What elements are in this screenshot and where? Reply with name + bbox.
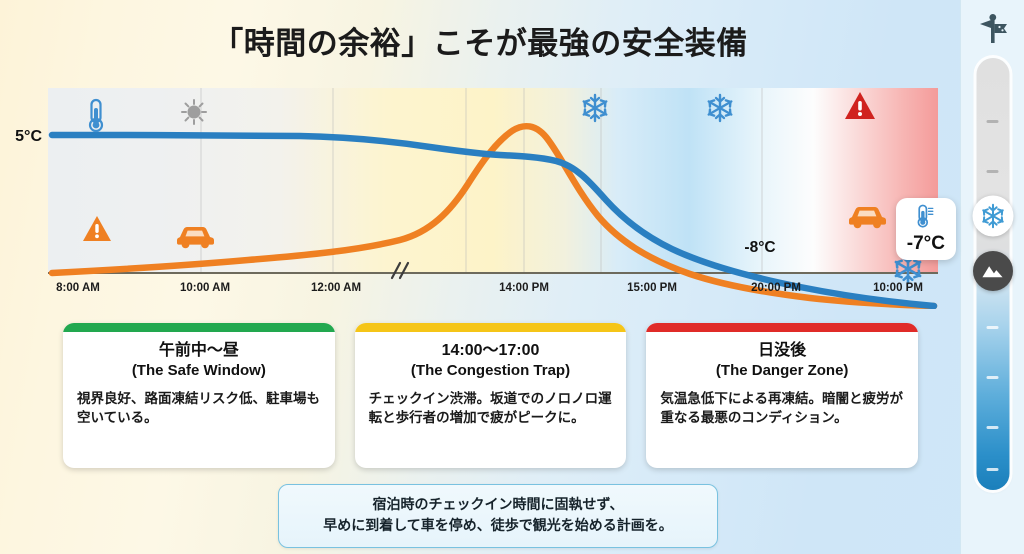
card-danger-zone[interactable]: 日没後 (The Danger Zone) 気温急低下による再凍結。暗闇と疲労が… <box>646 323 918 468</box>
x-tick-label: 8:00 AM <box>56 282 100 294</box>
card-body: 14:00〜17:00 (The Congestion Trap) チェックイン… <box>355 332 627 440</box>
card-description: 気温急低下による再凍結。暗闇と疲労が重なる最悪のコンディション。 <box>660 389 904 428</box>
x-tick-label: 12:00 AM <box>311 282 361 294</box>
x-tick-label: 20:00 PM <box>751 282 801 294</box>
card-title-en: (The Congestion Trap) <box>369 361 613 380</box>
temperature-value: -7°C <box>907 234 945 253</box>
snowflake-slider-handle[interactable] <box>972 196 1013 237</box>
x-tick-label: 10:00 PM <box>873 282 923 294</box>
slider-tick <box>987 468 999 471</box>
card-title-en: (The Danger Zone) <box>660 361 904 380</box>
callout-line-2: 早めに到着して車を停め、徒歩で観光を始める計画を。 <box>293 515 703 536</box>
x-tick-label: 10:00 AM <box>180 282 230 294</box>
card-description: 視界良好、路面凍結リスク低、駐車場も空いている。 <box>77 389 321 428</box>
plot-background <box>48 88 938 273</box>
thermometer-icon <box>915 204 937 228</box>
card-title-jp: 午前中〜昼 <box>159 342 239 359</box>
card-description: チェックイン渋滞。坂道でのノロノロ運転と歩行者の増加で疲がピークに。 <box>369 389 613 428</box>
x-tick-label: 15:00 PM <box>627 282 677 294</box>
right-sidebar: -7°C <box>960 0 1024 554</box>
slider-tick <box>987 426 999 429</box>
slider-tick <box>987 170 999 173</box>
slider-tick <box>987 120 999 123</box>
temperature-tooltip: -7°C <box>896 198 956 260</box>
card-accent-bar <box>63 323 335 332</box>
card-title: 午前中〜昼 (The Safe Window) <box>77 341 321 381</box>
x-tick-label: 14:00 PM <box>499 282 549 294</box>
card-title-en: (The Safe Window) <box>77 361 321 380</box>
page-title: 「時間の余裕」こそが最強の安全装備 <box>0 18 960 63</box>
card-accent-bar <box>355 323 627 332</box>
slider-tick <box>987 326 999 329</box>
slider-tick <box>987 376 999 379</box>
card-body: 日没後 (The Danger Zone) 気温急低下による再凍結。暗闇と疲労が… <box>646 332 918 440</box>
sun-icon <box>182 100 206 124</box>
card-accent-bar <box>646 323 918 332</box>
temperature-risk-chart: 5°C -8°C <box>0 84 960 309</box>
card-body: 午前中〜昼 (The Safe Window) 視界良好、路面凍結リスク低、駐車… <box>63 332 335 440</box>
card-title: 日没後 (The Danger Zone) <box>660 341 904 381</box>
signpost-icon[interactable] <box>976 12 1010 51</box>
inline-label-minus8c: -8°C <box>744 239 775 256</box>
card-congestion-trap[interactable]: 14:00〜17:00 (The Congestion Trap) チェックイン… <box>355 323 627 468</box>
y-axis-label-5c: 5°C <box>15 128 42 145</box>
card-title: 14:00〜17:00 (The Congestion Trap) <box>369 341 613 381</box>
timeline-cards: 午前中〜昼 (The Safe Window) 視界良好、路面凍結リスク低、駐車… <box>63 323 918 468</box>
mountain-slider-handle[interactable] <box>973 251 1013 291</box>
infographic-page: 「時間の余裕」こそが最強の安全装備 <box>0 0 1024 554</box>
callout-line-1: 宿泊時のチェックイン時間に固執せず、 <box>293 494 703 515</box>
card-safe-window[interactable]: 午前中〜昼 (The Safe Window) 視界良好、路面凍結リスク低、駐車… <box>63 323 335 468</box>
advice-callout: 宿泊時のチェックイン時間に固執せず、 早めに到着して車を停め、徒歩で観光を始める… <box>278 484 718 548</box>
card-title-jp: 日没後 <box>758 342 806 359</box>
card-title-jp: 14:00〜17:00 <box>442 342 540 359</box>
